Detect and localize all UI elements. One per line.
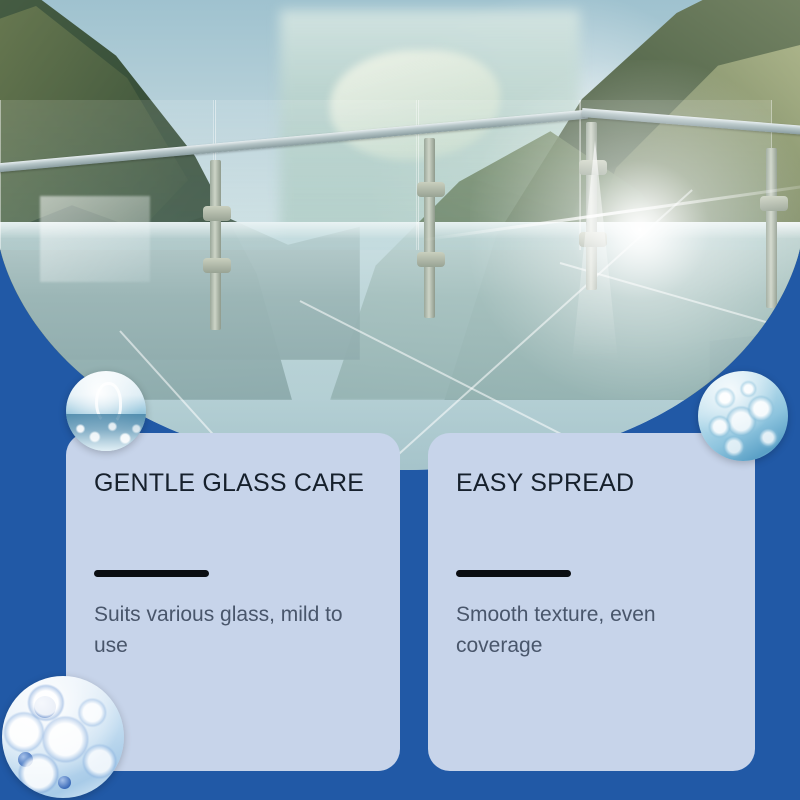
foam-core-bubble	[34, 696, 56, 718]
feature-card-description: Suits various glass, mild to use	[94, 599, 354, 661]
water-splash-icon	[66, 371, 146, 451]
glass-clamp	[417, 252, 445, 267]
foam-core-bubble	[58, 776, 71, 789]
railing-post	[210, 160, 221, 330]
foam-bubbles-icon	[2, 676, 124, 798]
feature-card-rule	[456, 570, 571, 577]
glass-pane-reflection	[40, 196, 150, 282]
feature-card-description: Smooth texture, even coverage	[456, 599, 716, 661]
feature-card-title: EASY SPREAD	[456, 469, 727, 498]
glass-clamp	[203, 206, 231, 221]
glass-clamp	[203, 258, 231, 273]
feature-card-easy-spread[interactable]: EASY SPREAD Smooth texture, even coverag…	[428, 433, 755, 771]
railing-post	[424, 138, 435, 318]
glass-clamp	[760, 196, 788, 211]
product-feature-poster: GENTLE GLASS CARE Suits various glass, m…	[0, 0, 800, 800]
railing-post	[766, 148, 777, 308]
glass-clamp	[417, 182, 445, 197]
water-splash-arc	[95, 382, 122, 425]
foam-core-bubble	[18, 752, 33, 767]
feature-card-title: GENTLE GLASS CARE	[94, 469, 372, 498]
bubbles-icon	[698, 371, 788, 461]
feature-card-rule	[94, 570, 209, 577]
glass-pane	[215, 100, 417, 250]
